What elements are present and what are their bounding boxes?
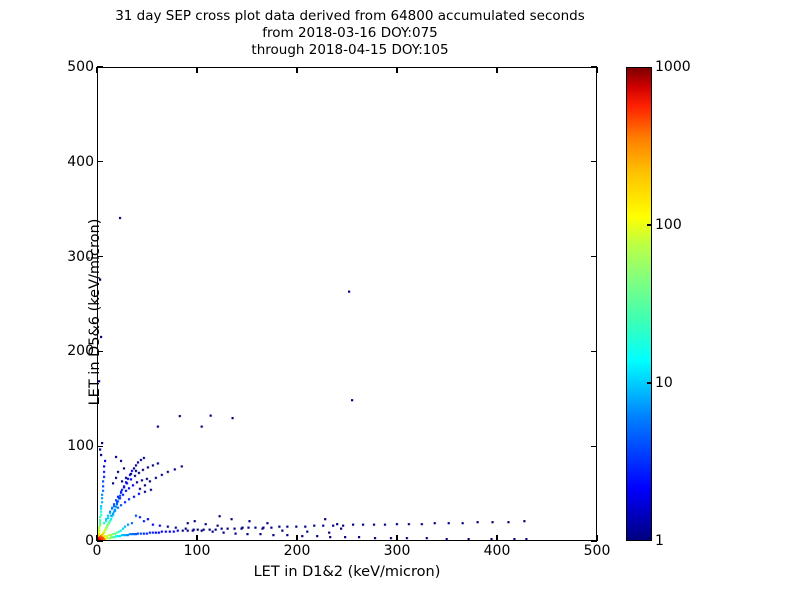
x-tick-200 xyxy=(296,535,297,541)
x-tick-100 xyxy=(196,67,197,73)
x-tick-400 xyxy=(496,535,497,541)
x-tick-label-400: 400 xyxy=(467,544,527,558)
colorbar xyxy=(626,67,652,541)
y-tick-400 xyxy=(591,161,597,162)
x-tick-label-500: 500 xyxy=(567,544,627,558)
colorbar-tick-label-100: 100 xyxy=(655,218,682,232)
x-tick-200 xyxy=(296,67,297,73)
x-tick-label-300: 300 xyxy=(367,544,427,558)
x-tick-500 xyxy=(596,67,597,73)
y-tick-300 xyxy=(591,256,597,257)
y-tick-100 xyxy=(591,446,597,447)
colorbar-tick-10 xyxy=(647,382,652,383)
plot-axes-frame xyxy=(97,67,597,541)
x-tick-100 xyxy=(196,535,197,541)
page-title: 31 day SEP cross plot data derived from … xyxy=(0,8,700,59)
y-tick-label-500: 500 xyxy=(67,60,94,74)
x-tick-0 xyxy=(96,67,97,73)
title-line-1: 31 day SEP cross plot data derived from … xyxy=(0,8,700,25)
colorbar-gradient xyxy=(626,67,652,541)
x-tick-label-100: 100 xyxy=(167,544,227,558)
colorbar-tick-label-1: 1 xyxy=(655,534,664,548)
x-tick-label-200: 200 xyxy=(267,544,327,558)
x-axis-label: LET in D1&2 (keV/micron) xyxy=(97,564,597,580)
y-tick-500 xyxy=(97,66,103,67)
colorbar-tick-label-10: 10 xyxy=(655,376,673,390)
x-tick-500 xyxy=(596,535,597,541)
title-line-2: from 2018-03-16 DOY:075 xyxy=(0,25,700,42)
colorbar-tick-100 xyxy=(647,224,652,225)
x-tick-400 xyxy=(496,67,497,73)
colorbar-tick-label-1000: 1000 xyxy=(655,60,691,74)
title-line-3: through 2018-04-15 DOY:105 xyxy=(0,42,700,59)
y-tick-200 xyxy=(591,351,597,352)
y-axis-label: LET in D5&6 (keV/micron) xyxy=(87,75,103,549)
x-tick-300 xyxy=(396,535,397,541)
x-tick-300 xyxy=(396,67,397,73)
scatter-plot-canvas xyxy=(98,68,596,540)
